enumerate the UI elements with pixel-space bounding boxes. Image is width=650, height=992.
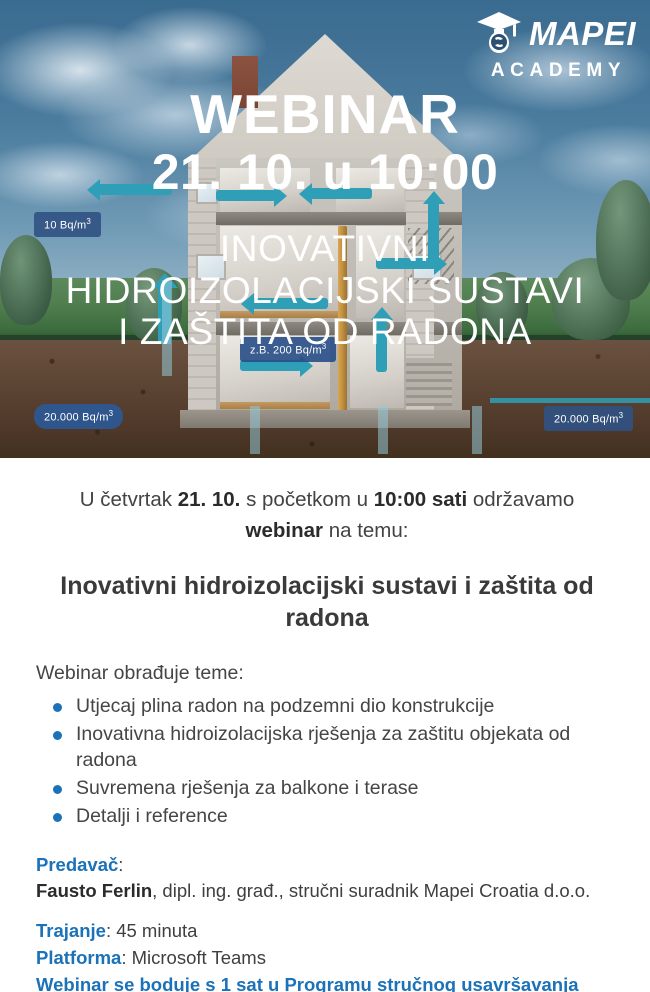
duration-label: Trajanje — [36, 920, 106, 941]
mapei-graduation-cap-icon — [475, 10, 523, 56]
themes-list: Utjecaj plina radon na podzemni dio kons… — [36, 694, 618, 830]
badge-superscript: 3 — [619, 411, 624, 420]
soil-probe-icon — [250, 406, 260, 454]
radon-flow-arrow-icon — [376, 318, 387, 372]
list-item: Suvremena rješenja za balkone i terase — [50, 776, 618, 802]
radon-flow-arrow-icon — [216, 190, 276, 201]
badge-superscript: 3 — [322, 342, 327, 351]
platform-label: Platforma — [36, 947, 121, 968]
mapei-wordmark: MAPEI — [529, 17, 636, 50]
intro-part-1: U četvrtak — [80, 488, 178, 511]
presenter-colon: : — [118, 854, 123, 875]
presenter-label: Predavač — [36, 854, 118, 875]
hero-banner: 10 Bq/m3 z.B. 200 Bq/m3 20.000 Bq/m3 20.… — [0, 0, 650, 458]
list-item: Detalji i reference — [50, 804, 618, 830]
underground-pipe-line — [490, 398, 650, 403]
intro-bold-date: 21. 10. — [178, 488, 241, 511]
academy-wordmark: ACADEMY — [491, 60, 626, 82]
soil-probe-icon — [472, 406, 482, 454]
chimney-icon — [232, 56, 258, 108]
radon-level-badge-soil-left: 20.000 Bq/m3 — [34, 404, 123, 429]
radon-level-badge-soil-right: 20.000 Bq/m3 — [544, 406, 633, 431]
intro-part-3: održavamo — [467, 488, 574, 511]
presenter-label-line: Predavač: — [36, 852, 618, 878]
badge-text: z.B. 200 Bq/m — [250, 345, 322, 357]
window-icon — [196, 254, 226, 280]
radon-flow-arrow-icon — [310, 188, 372, 199]
intro-part-2: s početkom u — [240, 488, 373, 511]
soil-probe-icon — [162, 280, 172, 376]
gable-wall — [188, 34, 462, 162]
list-item: Inovativna hidroizolacijska rješenja za … — [50, 722, 618, 774]
meta-block: Predavač: Fausto Ferlin, dipl. ing. građ… — [36, 852, 618, 992]
badge-superscript: 3 — [86, 217, 91, 226]
badge-text: 20.000 Bq/m — [44, 412, 109, 424]
intro-paragraph: U četvrtak 21. 10. s početkom u 10:00 sa… — [46, 484, 608, 546]
radon-flow-arrow-icon — [98, 184, 172, 195]
tree-icon — [0, 235, 52, 325]
tree-icon — [596, 180, 650, 300]
room — [356, 226, 404, 318]
badge-superscript: 3 — [109, 409, 114, 418]
radon-flow-arrow-icon — [252, 298, 328, 309]
logo-row: MAPEI — [475, 10, 636, 56]
duration-line: Trajanje: 45 minuta — [36, 918, 618, 944]
soil-probe-icon — [378, 406, 388, 454]
list-item: Utjecaj plina radon na podzemni dio kons… — [50, 694, 618, 720]
platform-line: Platforma: Microsoft Teams — [36, 945, 618, 971]
foundation-slab — [180, 410, 470, 428]
topic-title: Inovativni hidroizolacijski sustavi i za… — [36, 570, 618, 634]
webinar-announcement-page: 10 Bq/m3 z.B. 200 Bq/m3 20.000 Bq/m3 20.… — [0, 0, 650, 992]
radon-flow-arrow-icon — [376, 258, 436, 269]
presenter-name: Fausto Ferlin — [36, 880, 152, 901]
intro-part-4: na temu: — [323, 519, 408, 542]
accreditation-note: Webinar se boduje s 1 sat u Programu str… — [36, 973, 618, 992]
duration-value: : 45 minuta — [106, 920, 198, 941]
window-icon — [196, 182, 218, 204]
house-cutaway-illustration — [160, 22, 490, 442]
intro-bold-time: 10:00 sati — [374, 488, 467, 511]
intro-bold-webinar: webinar — [246, 519, 323, 542]
wooden-floor — [220, 311, 338, 318]
spacer — [36, 904, 618, 918]
vertical-pipe-icon — [338, 226, 347, 420]
themes-label: Webinar obrađuje teme: — [36, 662, 618, 685]
badge-text: 10 Bq/m — [44, 220, 86, 232]
presenter-details: , dipl. ing. građ., stručni suradnik Map… — [152, 880, 590, 901]
radon-level-badge-interior: z.B. 200 Bq/m3 — [240, 337, 336, 362]
content-area: U četvrtak 21. 10. s početkom u 10:00 sa… — [0, 458, 650, 992]
mapei-academy-logo: MAPEI ACADEMY — [475, 10, 636, 82]
platform-value: : Microsoft Teams — [121, 947, 266, 968]
wooden-floor — [220, 402, 330, 409]
basement-stairs-icon — [406, 358, 452, 406]
badge-text: 20.000 Bq/m — [554, 414, 619, 426]
radon-flow-arrow-icon — [428, 202, 439, 266]
radon-level-badge-attic: 10 Bq/m3 — [34, 212, 101, 237]
presenter-name-line: Fausto Ferlin, dipl. ing. građ., stručni… — [36, 878, 618, 904]
